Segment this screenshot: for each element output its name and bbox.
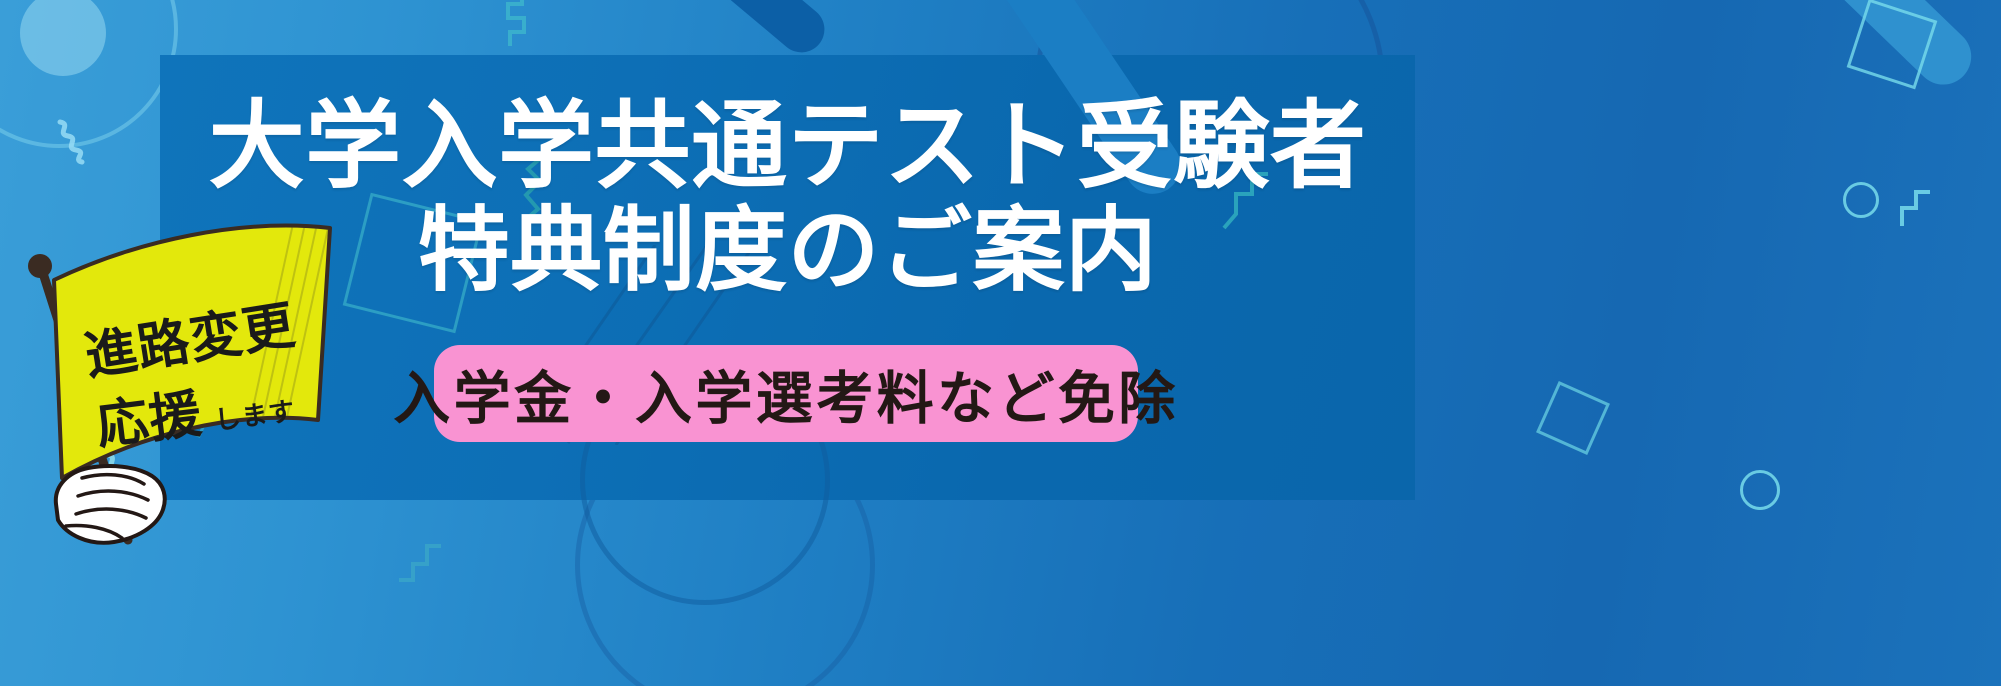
- rounded-bar-icon: [706, 0, 834, 62]
- zigzag-icon: [54, 118, 94, 166]
- circle-outline-icon: [1740, 470, 1780, 510]
- flag-pole-finial-icon: [28, 254, 52, 278]
- square-outline-icon: [1847, 0, 1938, 89]
- circle-fill-icon: [20, 0, 106, 76]
- rounded-bar-icon: [1807, 0, 1983, 96]
- flag-text-line-2-main: 応援: [93, 384, 206, 456]
- promotional-banner: 大学入学共通テスト受験者 特典制度のご案内 入学金・入学選考料など免除: [0, 0, 2001, 686]
- badge-label: 入学金・入学選考料など免除: [393, 353, 1178, 435]
- zigzag-icon: [395, 540, 445, 584]
- hand-icon: [56, 466, 165, 543]
- zigzag-icon: [500, 0, 546, 50]
- square-outline-icon: [1536, 381, 1610, 455]
- headline-line-1: 大学入学共通テスト受験者: [160, 95, 1415, 199]
- status-badge: 入学金・入学選考料など免除: [434, 345, 1138, 442]
- zigzag-icon: [1890, 188, 1934, 234]
- flag-graphic: 進路変更 応援 します: [18, 210, 368, 570]
- circle-outline-icon: [0, 0, 178, 148]
- circle-outline-icon: [1843, 182, 1879, 218]
